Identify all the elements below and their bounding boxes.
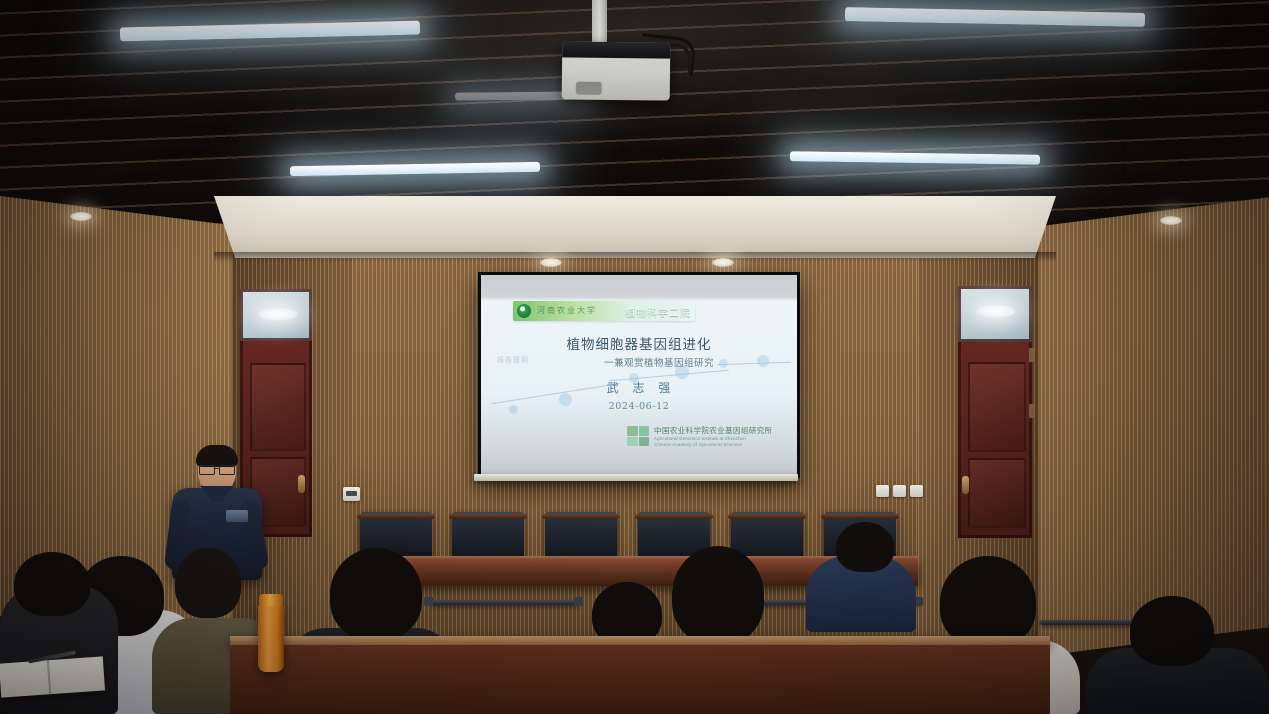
projection-screen: 河南农业大学 植物科学二院 报告提纲 植物细胞器基因组进化 一兼观赏植物基因组研… (478, 272, 800, 478)
institute-name-cn: 中国农业科学院农业基因组研究所 (654, 425, 772, 436)
soffit-shadow (214, 252, 1056, 262)
slide-date: 2024-06-12 (481, 401, 797, 412)
water-bottle (258, 600, 284, 672)
audience-head (672, 546, 764, 644)
audience-head (836, 522, 894, 572)
light-switch[interactable] (876, 485, 889, 497)
door-handle[interactable] (298, 475, 305, 493)
audience-head (330, 548, 422, 640)
transom-light-reflection (258, 307, 298, 321)
transom-light-reflection (976, 304, 1016, 318)
audience-head (940, 556, 1036, 648)
recessed-downlight (1160, 216, 1182, 225)
recessed-downlight (540, 258, 562, 267)
front-desk (230, 645, 1050, 714)
university-banner: 河南农业大学 植物科学二院 (513, 301, 695, 321)
recessed-downlight (70, 212, 92, 221)
projector-mount-pole (592, 0, 607, 46)
screen-bottom-bar (474, 474, 798, 481)
presenter-shirt-logo (226, 510, 248, 522)
chair[interactable] (452, 512, 524, 560)
light-switch[interactable] (910, 485, 923, 497)
institute-logo-icon (627, 426, 649, 446)
projector (562, 41, 671, 100)
slide: 河南农业大学 植物科学二院 报告提纲 植物细胞器基因组进化 一兼观赏植物基因组研… (481, 297, 797, 457)
recessed-downlight (712, 258, 734, 267)
left-door-transom-window (240, 289, 312, 341)
bench-rail-cap (424, 597, 433, 606)
door-panel (250, 363, 306, 451)
audience-head (175, 548, 241, 618)
wall-control-panel[interactable] (343, 487, 360, 501)
slide-subtitle: 一兼观赏植物基因组研究 (481, 355, 797, 369)
presenter-hair (196, 445, 238, 467)
institute-name-en-line1: Agricultural Genomics Institute at Shenz… (654, 436, 746, 441)
banner-org-left: 河南农业大学 (537, 305, 597, 316)
glasses-icon (198, 465, 236, 473)
water-bottle-cap (259, 594, 283, 606)
projector-top-cover (562, 41, 670, 58)
institute-name-en-line2: Chinese Academy of Agricultural Sciences (654, 442, 742, 447)
institute-logo-block: 中国农业科学院农业基因组研究所 Agricultural Genomics In… (627, 425, 783, 449)
bench-rail (430, 600, 580, 605)
screen-surface: 河南农业大学 植物科学二院 报告提纲 植物细胞器基因组进化 一兼观赏植物基因组研… (481, 275, 797, 475)
banner-org-right: 植物科学二院 (625, 304, 691, 319)
notebook (0, 656, 105, 697)
door-handle[interactable] (962, 476, 969, 494)
slide-title: 植物细胞器基因组进化 (481, 333, 797, 353)
light-switch[interactable] (893, 485, 906, 497)
door-panel (968, 362, 1026, 452)
ceiling-soffit (214, 196, 1056, 258)
bench-rail-cap (574, 597, 583, 606)
door-hinge (1029, 348, 1034, 362)
presentation-room-photo: 河南农业大学 植物科学二院 报告提纲 植物细胞器基因组进化 一兼观赏植物基因组研… (0, 0, 1269, 714)
university-logo-icon (517, 304, 531, 318)
chair[interactable] (545, 512, 617, 560)
door-hinge (1029, 404, 1034, 418)
slide-author: 武 志 强 (481, 379, 797, 396)
door-panel (968, 458, 1026, 528)
projector-lens (576, 82, 602, 95)
audience-head (14, 552, 90, 616)
audience-head (1130, 596, 1214, 666)
right-door-transom-window (958, 286, 1032, 342)
